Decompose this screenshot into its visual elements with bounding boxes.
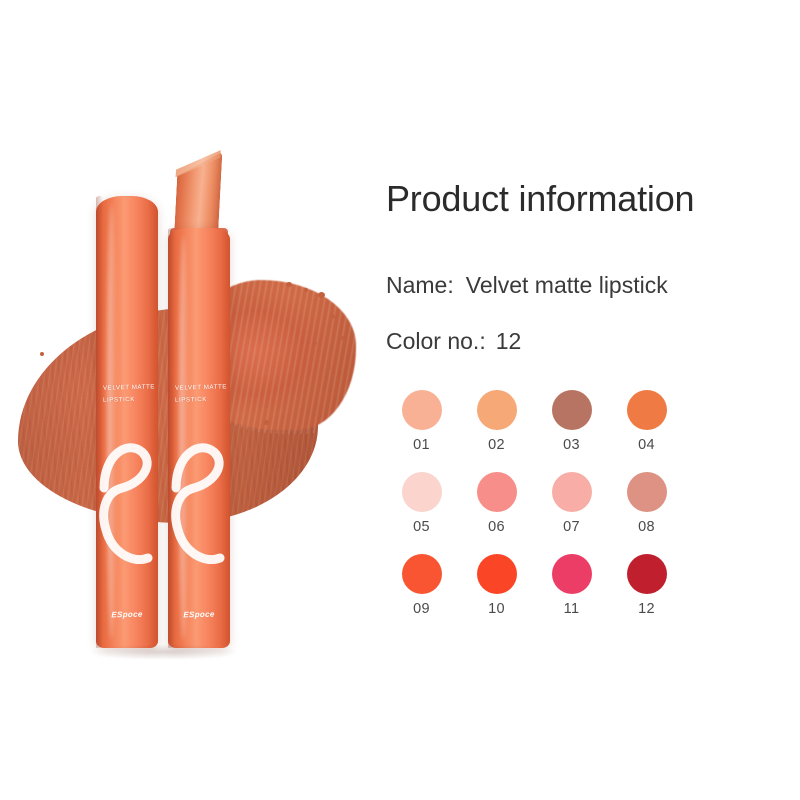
tube-print-text: VELVET MATTE LIPSTICK (103, 381, 159, 407)
color-swatch-label: 08 (638, 519, 655, 535)
smear-fleck (318, 292, 325, 298)
color-swatch-08[interactable]: 08 (609, 472, 684, 535)
tube-highlight (107, 205, 116, 639)
color-swatch-dot[interactable] (402, 390, 442, 430)
brand-monogram-e-icon (98, 418, 158, 596)
tube-print-line2: LIPSTICK (103, 393, 159, 407)
color-swatch-11[interactable]: 11 (534, 554, 609, 617)
product-information-panel: Product information Name: Velvet matte l… (384, 0, 800, 800)
smear-fleck (286, 282, 292, 287)
color-swatch-03[interactable]: 03 (534, 390, 609, 453)
tube-print-line1: VELVET MATTE (175, 381, 231, 395)
brand-name: ESpoce (168, 609, 230, 620)
color-swatch-label: 09 (413, 601, 430, 617)
name-value: Velvet matte lipstick (466, 272, 668, 299)
page-title: Product information (386, 178, 694, 220)
product-ground-shadow (88, 644, 240, 660)
tube-shading (168, 228, 175, 648)
lipstick-tube-back: VELVET MATTE LIPSTICK ESpoce (96, 196, 158, 648)
color-swatch-label: 03 (563, 437, 580, 453)
color-swatch-05[interactable]: 05 (384, 472, 459, 535)
color-swatch-dot[interactable] (402, 554, 442, 594)
smear-fleck (314, 342, 317, 345)
color-swatch-07[interactable]: 07 (534, 472, 609, 535)
color-no-value: 12 (496, 328, 522, 355)
color-swatch-dot[interactable] (402, 472, 442, 512)
color-swatch-dot[interactable] (477, 554, 517, 594)
color-swatch-label: 11 (564, 601, 580, 617)
color-no-label: Color no.: (386, 328, 486, 355)
color-swatch-dot[interactable] (552, 554, 592, 594)
brand-name: ESpoce (96, 609, 158, 620)
smear-fleck (40, 352, 44, 356)
spec-row-color-no: Color no.: 12 (386, 328, 521, 355)
color-swatch-dot[interactable] (627, 472, 667, 512)
product-detail-page: VELVET MATTE LIPSTICK ESpoce VELVET MATT… (0, 0, 800, 800)
tube-print-line1: VELVET MATTE (103, 381, 159, 395)
smear-fleck (264, 420, 269, 425)
color-swatch-dot[interactable] (627, 554, 667, 594)
name-label: Name: (386, 272, 454, 299)
color-swatch-dot[interactable] (477, 390, 517, 430)
brand-monogram-e-icon (170, 418, 230, 596)
tube-highlight (179, 236, 188, 639)
color-swatch-label: 04 (638, 437, 655, 453)
color-swatch-dot[interactable] (477, 472, 517, 512)
smear-fleck (326, 366, 331, 370)
color-swatch-label: 12 (638, 601, 655, 617)
smear-fleck (340, 336, 344, 340)
lipstick-tube-front: VELVET MATTE LIPSTICK ESpoce (168, 228, 230, 648)
color-swatch-09[interactable]: 09 (384, 554, 459, 617)
tube-print-text: VELVET MATTE LIPSTICK (175, 381, 231, 407)
spec-row-name: Name: Velvet matte lipstick (386, 272, 668, 299)
color-swatch-dot[interactable] (552, 390, 592, 430)
color-swatch-04[interactable]: 04 (609, 390, 684, 453)
color-swatch-label: 06 (488, 519, 505, 535)
color-swatch-dot[interactable] (552, 472, 592, 512)
color-swatch-02[interactable]: 02 (459, 390, 534, 453)
color-swatch-10[interactable]: 10 (459, 554, 534, 617)
color-swatch-dot[interactable] (627, 390, 667, 430)
smear-fleck (304, 288, 308, 292)
product-photo: VELVET MATTE LIPSTICK ESpoce VELVET MATT… (0, 0, 370, 800)
color-swatch-06[interactable]: 06 (459, 472, 534, 535)
color-swatch-label: 05 (413, 519, 430, 535)
color-swatch-label: 01 (413, 437, 430, 453)
color-swatch-label: 07 (563, 519, 580, 535)
tube-shading (96, 196, 103, 648)
color-swatch-label: 02 (488, 437, 505, 453)
color-swatch-label: 10 (488, 601, 505, 617)
smear-fleck (330, 314, 335, 319)
tube-print-line2: LIPSTICK (175, 393, 231, 407)
color-swatch-grid: 010203040506070809101112 (384, 390, 684, 617)
color-swatch-01[interactable]: 01 (384, 390, 459, 453)
color-swatch-12[interactable]: 12 (609, 554, 684, 617)
